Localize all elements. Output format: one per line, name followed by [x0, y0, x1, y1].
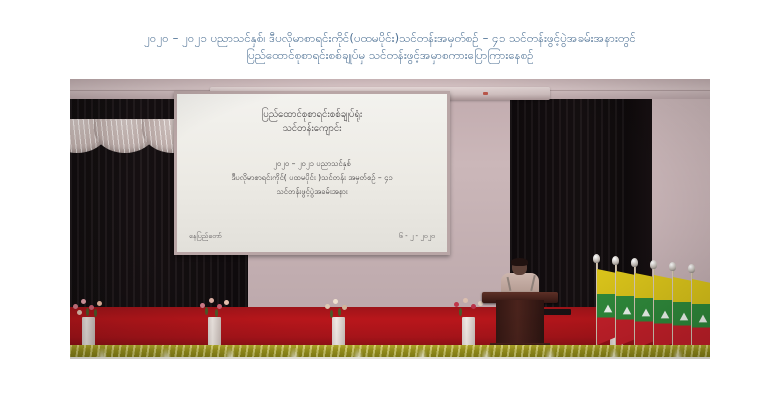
- flower-pedestal: [208, 317, 221, 347]
- caption-line-2: ပြည်ထောင်စုစာရင်းစစ်ချုပ်မှ သင်တန်းဖွင့်…: [0, 47, 780, 64]
- roller-indicator-icon: [483, 92, 488, 95]
- flag-finial-icon: [669, 262, 676, 271]
- slide-footer: နေပြည်တော် ၆ - ၂ - ၂၀၂၀: [189, 232, 435, 242]
- flower-pedestal: [82, 317, 95, 347]
- slide-body-line-1: ၂၀၂၀ – ၂၀၂၁ ပညာသင်နှစ်: [191, 158, 433, 170]
- flower-arrangement: [319, 296, 358, 320]
- pedestal-column: [462, 317, 475, 347]
- event-photograph: ပြည်ထောင်စုစာရင်းစစ်ချုပ်ရုံး သင်တန်းကျေ…: [70, 79, 710, 359]
- flag-star-icon: [604, 305, 613, 313]
- flag-finial-icon: [631, 258, 638, 267]
- slide-footer-date: ၆ - ၂ - ၂၀၂၀: [399, 232, 435, 242]
- slide-content: ပြည်ထောင်စုစာရင်းစစ်ချုပ်ရုံး သင်တန်းကျေ…: [177, 94, 447, 252]
- slide-footer-location: နေပြည်တော်: [189, 232, 222, 242]
- flag-finial-icon: [593, 254, 600, 263]
- news-photo-page: ၂၀၂၀ – ၂၀၂၁ ပညာသင်နှစ်၊ ဒီပလိုမာစာရင်းကိ…: [0, 0, 780, 420]
- slide-body-line-2: ဒီပလိုမာစာရင်းကိုင်( ပထမပိုင်း )သင်တန်း …: [191, 172, 433, 184]
- flower-pedestal: [462, 317, 475, 347]
- flag-star-icon: [642, 309, 651, 317]
- flag-star-icon: [661, 311, 670, 319]
- photo-bottom-edge: [70, 357, 710, 359]
- flag-finial-icon: [612, 256, 619, 265]
- caption-line-1: ၂၀၂၀ – ၂၀၂၁ ပညာသင်နှစ်၊ ဒီပလိုမာစာရင်းကိ…: [0, 30, 780, 47]
- slide-title-line-2: သင်တန်းကျောင်း: [191, 122, 433, 136]
- myanmar-flag: [689, 257, 710, 359]
- podium-body: [496, 300, 544, 344]
- pedestal-column: [208, 317, 221, 347]
- projection-screen: ပြည်ထောင်စုစာရင်းစစ်ချုပ်ရုံး သင်တန်းကျေ…: [174, 91, 450, 255]
- slide-body-line-3: သင်တန်းဖွင့်ပွဲအခမ်းအနား: [191, 186, 433, 198]
- podium-area: [482, 269, 558, 347]
- flower-arrangement: [195, 296, 234, 320]
- flower-arrangement: [70, 296, 108, 320]
- flag-finial-icon: [650, 260, 657, 269]
- flag-star-icon: [699, 315, 708, 323]
- photo-caption: ၂၀၂၀ – ၂၀၂၁ ပညာသင်နှစ်၊ ဒီပလိုမာစာရင်းကိ…: [0, 30, 780, 64]
- flower-pedestal: [332, 317, 345, 347]
- flag-star-icon: [623, 307, 632, 315]
- flag-star-icon: [680, 313, 689, 321]
- flag-finial-icon: [688, 264, 695, 273]
- flag-row: [594, 235, 710, 347]
- slide-title-line-1: ပြည်ထောင်စုစာရင်းစစ်ချုပ်ရုံး: [191, 108, 433, 122]
- speaker-hair: [511, 258, 528, 266]
- pedestal-column: [332, 317, 345, 347]
- pedestal-column: [82, 317, 95, 347]
